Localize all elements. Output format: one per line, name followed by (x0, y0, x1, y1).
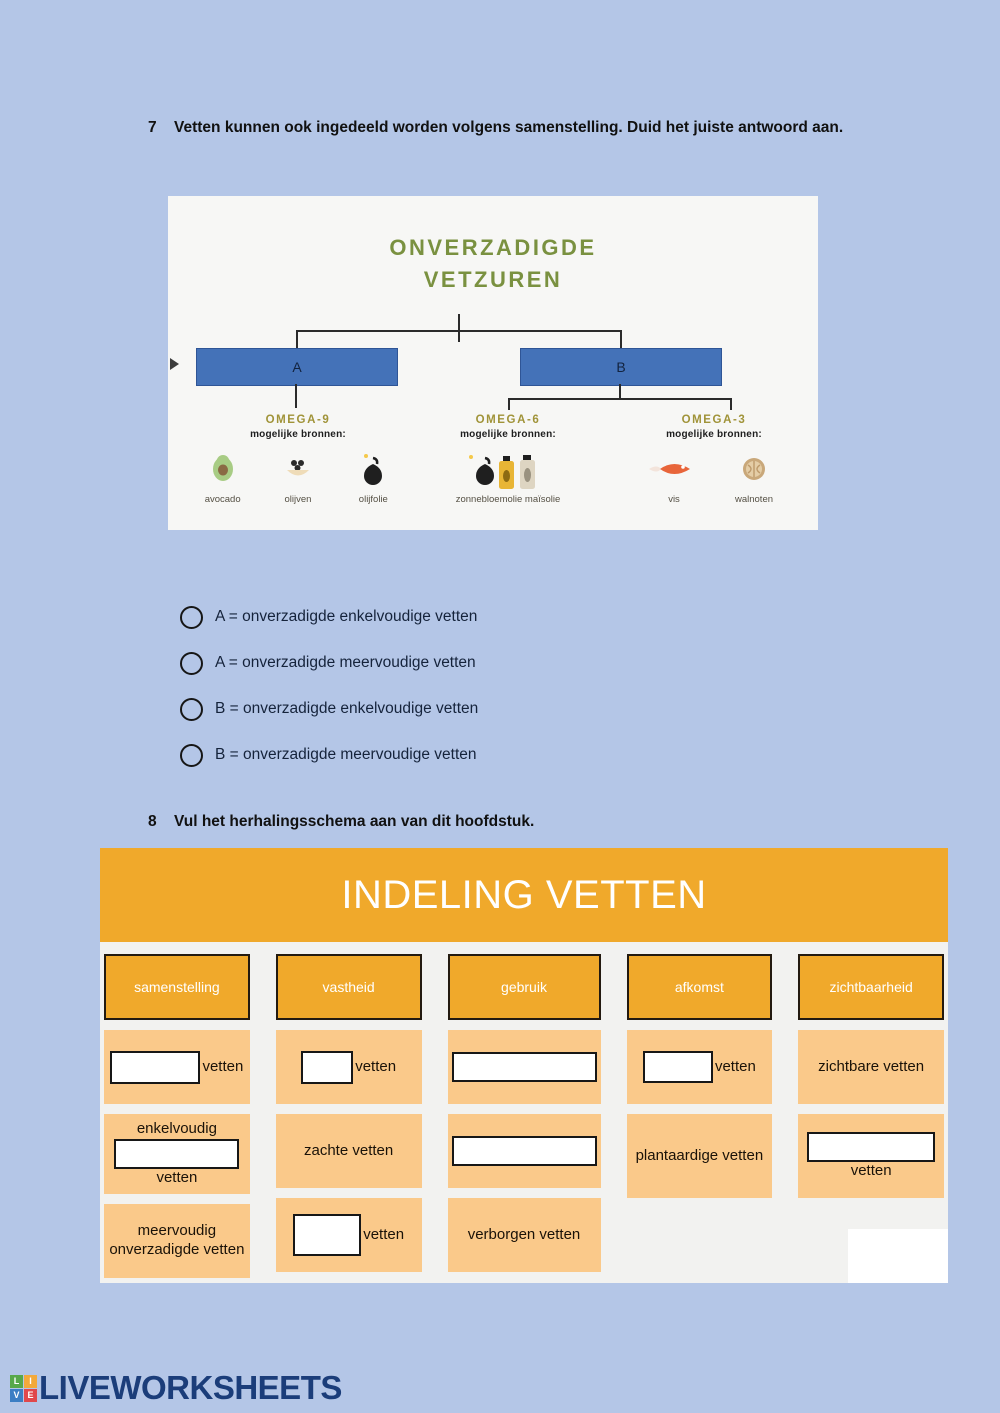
omega-9-sources: avocado olijven (198, 452, 398, 506)
cell-top-text-samenstelling-2: enkelvoudig (137, 1120, 217, 1139)
omega-3-title: OMEGA-3 (620, 414, 808, 426)
olives-bowl-icon (273, 452, 322, 494)
logo-letter-l: L (10, 1375, 23, 1388)
connector-horizontal-top (296, 330, 622, 332)
radio-button-1[interactable] (180, 606, 203, 629)
omega-3-subtitle: mogelijke bronnen: (620, 429, 808, 440)
playback-marker-icon (170, 358, 179, 370)
option-row-2[interactable]: A = onverzadigde meervoudige vetten (180, 640, 478, 686)
cell-vastheid-1: vetten (276, 1030, 422, 1104)
option-label-1: A = onverzadigde enkelvoudige vetten (215, 608, 477, 626)
diagram-title-line-1: ONVERZADIGDE (168, 232, 818, 264)
omega-6-sources: zonnebloemolie maïsolie (420, 452, 596, 506)
option-label-3: B = onverzadigde enkelvoudige vetten (215, 700, 478, 718)
blank-input-afkomst-1[interactable] (643, 1051, 713, 1083)
question-7-number: 7 (148, 118, 160, 139)
blank-input-samenstelling-2[interactable] (114, 1139, 239, 1169)
cell-vastheid-2: zachte vetten (276, 1114, 422, 1188)
diagram-title-line-2: VETZUREN (168, 264, 818, 296)
cell-samenstelling-1: vetten (104, 1030, 250, 1104)
connector-drop-a (296, 330, 298, 350)
radio-button-2[interactable] (180, 652, 203, 675)
option-row-4[interactable]: B = onverzadigde meervoudige vetten (180, 732, 478, 778)
column-header-samenstelling: samenstelling (104, 954, 250, 1020)
cell-text-zichtbaarheid-2: vetten (851, 1162, 892, 1181)
answer-options-group: A = onverzadigde enkelvoudige vetten A =… (180, 594, 478, 778)
unsaturated-fats-diagram: ONVERZADIGDE VETZUREN A B OMEGA-9 mogeli… (168, 196, 818, 530)
column-header-zichtbaarheid: zichtbaarheid (798, 954, 944, 1020)
source-walnuts: walnoten (727, 452, 781, 506)
omega-9-subtitle: mogelijke bronnen: (198, 429, 398, 440)
cell-zichtbaarheid-2: vetten (798, 1114, 944, 1198)
source-fish-caption: vis (647, 494, 701, 506)
source-olive-oil-caption: olijfolie (349, 494, 398, 506)
option-label-4: B = onverzadigde meervoudige vetten (215, 746, 477, 764)
logo-letter-e: E (24, 1389, 37, 1402)
avocado-icon (198, 452, 247, 494)
question-8-number: 8 (148, 812, 160, 833)
cell-text-vastheid-1: vetten (355, 1058, 396, 1077)
omega-3-sources: vis walnoten (620, 452, 808, 506)
liveworksheets-footer: L I V E LIVEWORKSHEETS (10, 1369, 342, 1407)
cell-samenstelling-2: enkelvoudig vetten (104, 1114, 250, 1194)
indeling-vetten-scheme: INDELING VETTEN samenstelling vetten enk… (100, 848, 948, 1283)
question-8-text: Vul het herhalingsschema aan van dit hoo… (174, 812, 534, 833)
cell-zichtbaarheid-1: zichtbare vetten (798, 1030, 944, 1104)
blank-input-zichtbaarheid-2[interactable] (807, 1132, 935, 1162)
omega-9-group: OMEGA-9 mogelijke bronnen: avocado (198, 414, 398, 506)
source-olives-caption: olijven (273, 494, 322, 506)
cell-gebruik-1 (448, 1030, 601, 1104)
radio-button-4[interactable] (180, 744, 203, 767)
blank-input-gebruik-2[interactable] (452, 1136, 597, 1166)
cell-samenstelling-3: meervoudig onverzadigde vetten (104, 1204, 250, 1278)
column-header-gebruik: gebruik (448, 954, 601, 1020)
omega-3-group: OMEGA-3 mogelijke bronnen: vis (620, 414, 808, 506)
walnut-icon (727, 452, 781, 494)
olive-oil-bottle-icon (349, 452, 398, 494)
oil-bottles-icon (428, 452, 588, 494)
cell-afkomst-3-empty (627, 1208, 773, 1220)
option-label-2: A = onverzadigde meervoudige vetten (215, 654, 476, 672)
omega-6-subtitle: mogelijke bronnen: (420, 429, 596, 440)
fish-icon (647, 452, 701, 494)
cell-text-afkomst-1: vetten (715, 1058, 756, 1077)
option-row-3[interactable]: B = onverzadigde enkelvoudige vetten (180, 686, 478, 732)
scheme-grid: samenstelling vetten enkelvoudig vetten … (100, 942, 948, 1278)
option-row-1[interactable]: A = onverzadigde enkelvoudige vetten (180, 594, 478, 640)
cell-text-samenstelling-1: vetten (202, 1058, 243, 1077)
liveworksheets-brand-text: LIVEWORKSHEETS (39, 1369, 342, 1407)
column-header-vastheid: vastheid (276, 954, 422, 1020)
scheme-column-vastheid: vastheid vetten zachte vetten vetten (276, 954, 422, 1278)
blank-input-samenstelling-1[interactable] (110, 1051, 200, 1084)
logo-letter-i: I (24, 1375, 37, 1388)
scheme-white-patch (848, 1229, 948, 1283)
logo-letter-v: V (10, 1389, 23, 1402)
scheme-column-samenstelling: samenstelling vetten enkelvoudig vetten … (104, 954, 250, 1278)
cell-gebruik-3: verborgen vetten (448, 1198, 601, 1272)
omega-6-group: OMEGA-6 mogelijke bronnen: (420, 414, 596, 506)
scheme-title: INDELING VETTEN (100, 848, 948, 942)
question-7-text: Vetten kunnen ook ingedeeld worden volge… (174, 118, 843, 139)
cell-text-vastheid-3: vetten (363, 1226, 404, 1245)
cell-gebruik-2 (448, 1114, 601, 1188)
diagram-title: ONVERZADIGDE VETZUREN (168, 232, 818, 296)
cell-vastheid-3: vetten (276, 1198, 422, 1272)
scheme-column-gebruik: gebruik verborgen vetten (448, 954, 601, 1278)
connector-drop-b (620, 330, 622, 350)
cell-zichtbaarheid-3-empty (798, 1208, 944, 1220)
cell-afkomst-2: plantaardige vetten (627, 1114, 773, 1198)
question-7: 7 Vetten kunnen ook ingedeeld worden vol… (148, 118, 843, 139)
blank-input-vastheid-3[interactable] (293, 1214, 361, 1256)
source-olives: olijven (273, 452, 322, 506)
source-fish: vis (647, 452, 701, 506)
radio-button-3[interactable] (180, 698, 203, 721)
diagram-box-b: B (520, 348, 722, 386)
connector-horizontal-bottom (508, 398, 732, 400)
source-walnuts-caption: walnoten (727, 494, 781, 506)
blank-input-vastheid-1[interactable] (301, 1051, 353, 1084)
connector-a-down (295, 384, 297, 408)
liveworksheets-logo-icon: L I V E (10, 1375, 37, 1402)
connector-drop-omega3 (730, 398, 732, 410)
source-olive-oil: olijfolie (349, 452, 398, 506)
source-avocado-caption: avocado (198, 494, 247, 506)
source-seed-oils-caption: zonnebloemolie maïsolie (428, 494, 588, 506)
cell-afkomst-1: vetten (627, 1030, 773, 1104)
diagram-box-a: A (196, 348, 398, 386)
cell-bottom-text-samenstelling-2: vetten (156, 1169, 197, 1188)
connector-drop-omega6 (508, 398, 510, 410)
source-seed-oils: zonnebloemolie maïsolie (428, 452, 588, 506)
column-header-afkomst: afkomst (627, 954, 773, 1020)
omega-9-title: OMEGA-9 (198, 414, 398, 426)
blank-input-gebruik-1[interactable] (452, 1052, 597, 1082)
scheme-column-afkomst: afkomst vetten plantaardige vetten (627, 954, 773, 1278)
connector-vertical-root (458, 314, 460, 342)
omega-6-title: OMEGA-6 (420, 414, 596, 426)
connector-b-down (619, 384, 621, 398)
question-8: 8 Vul het herhalingsschema aan van dit h… (148, 812, 534, 833)
source-avocado: avocado (198, 452, 247, 506)
